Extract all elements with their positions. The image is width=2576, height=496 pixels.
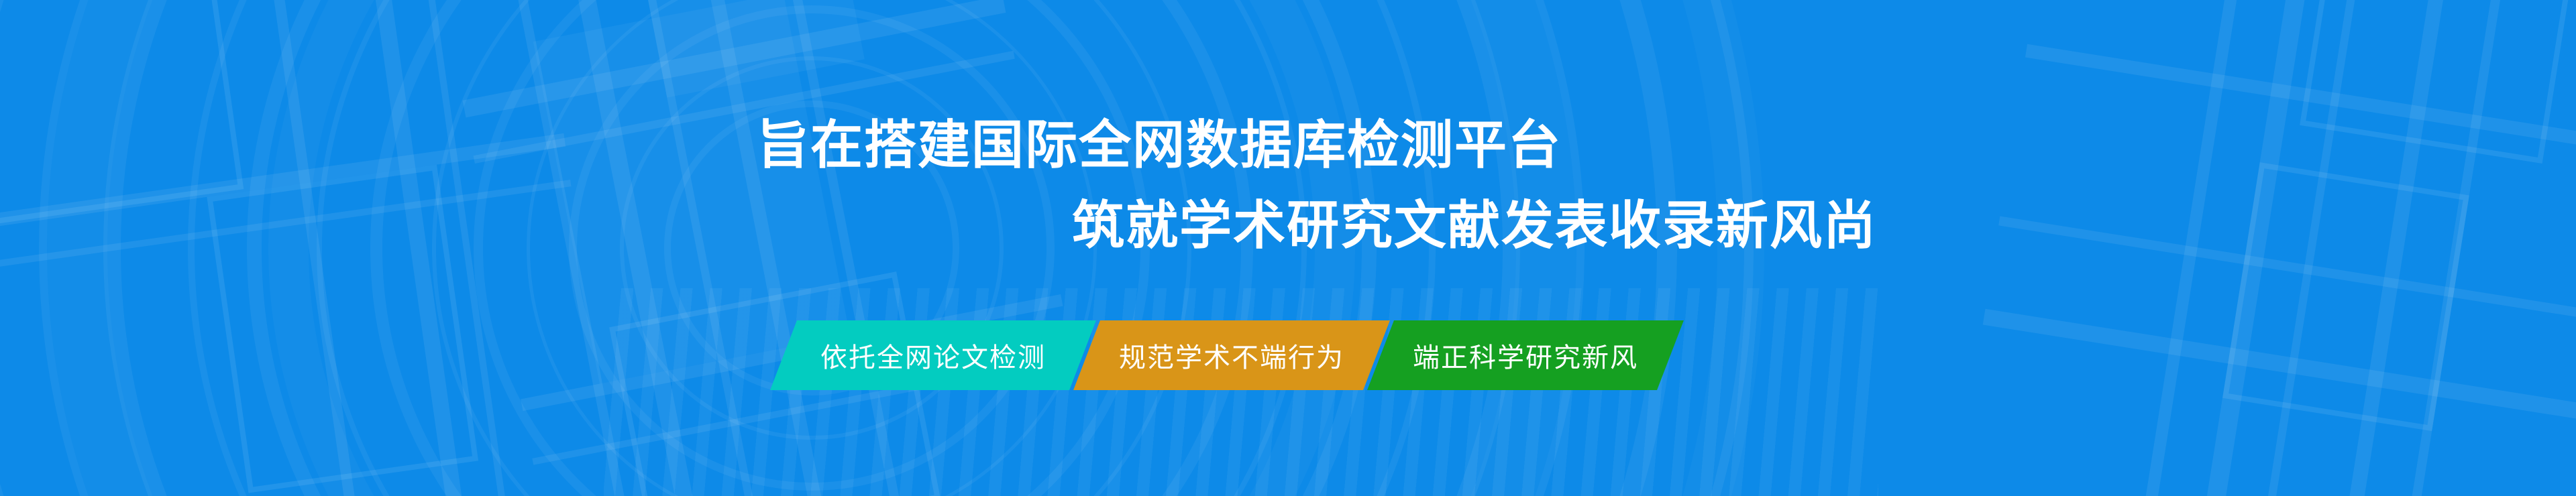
feature-tag-1[interactable]: 依托全网论文检测 bbox=[770, 320, 1096, 390]
feature-tag-3-label: 端正科学研究新风 bbox=[1413, 336, 1638, 375]
feature-tag-band: 依托全网论文检测 规范学术不端行为 端正科学研究新风 bbox=[784, 320, 1670, 390]
feature-tag-3[interactable]: 端正科学研究新风 bbox=[1367, 320, 1684, 390]
headline-block: 旨在搭建国际全网数据库检测平台 筑就学术研究文献发表收录新风尚 bbox=[0, 0, 2576, 496]
feature-tag-1-label: 依托全网论文检测 bbox=[820, 336, 1046, 375]
headline-line-2: 筑就学术研究文献发表收录新风尚 bbox=[1072, 199, 1877, 251]
feature-tag-2[interactable]: 规范学术不端行为 bbox=[1073, 320, 1390, 390]
headline-line-1: 旨在搭建国际全网数据库检测平台 bbox=[757, 119, 1562, 171]
promo-banner: 旨在搭建国际全网数据库检测平台 筑就学术研究文献发表收录新风尚 依托全网论文检测… bbox=[0, 0, 2576, 496]
feature-tag-2-label: 规范学术不端行为 bbox=[1119, 336, 1344, 375]
